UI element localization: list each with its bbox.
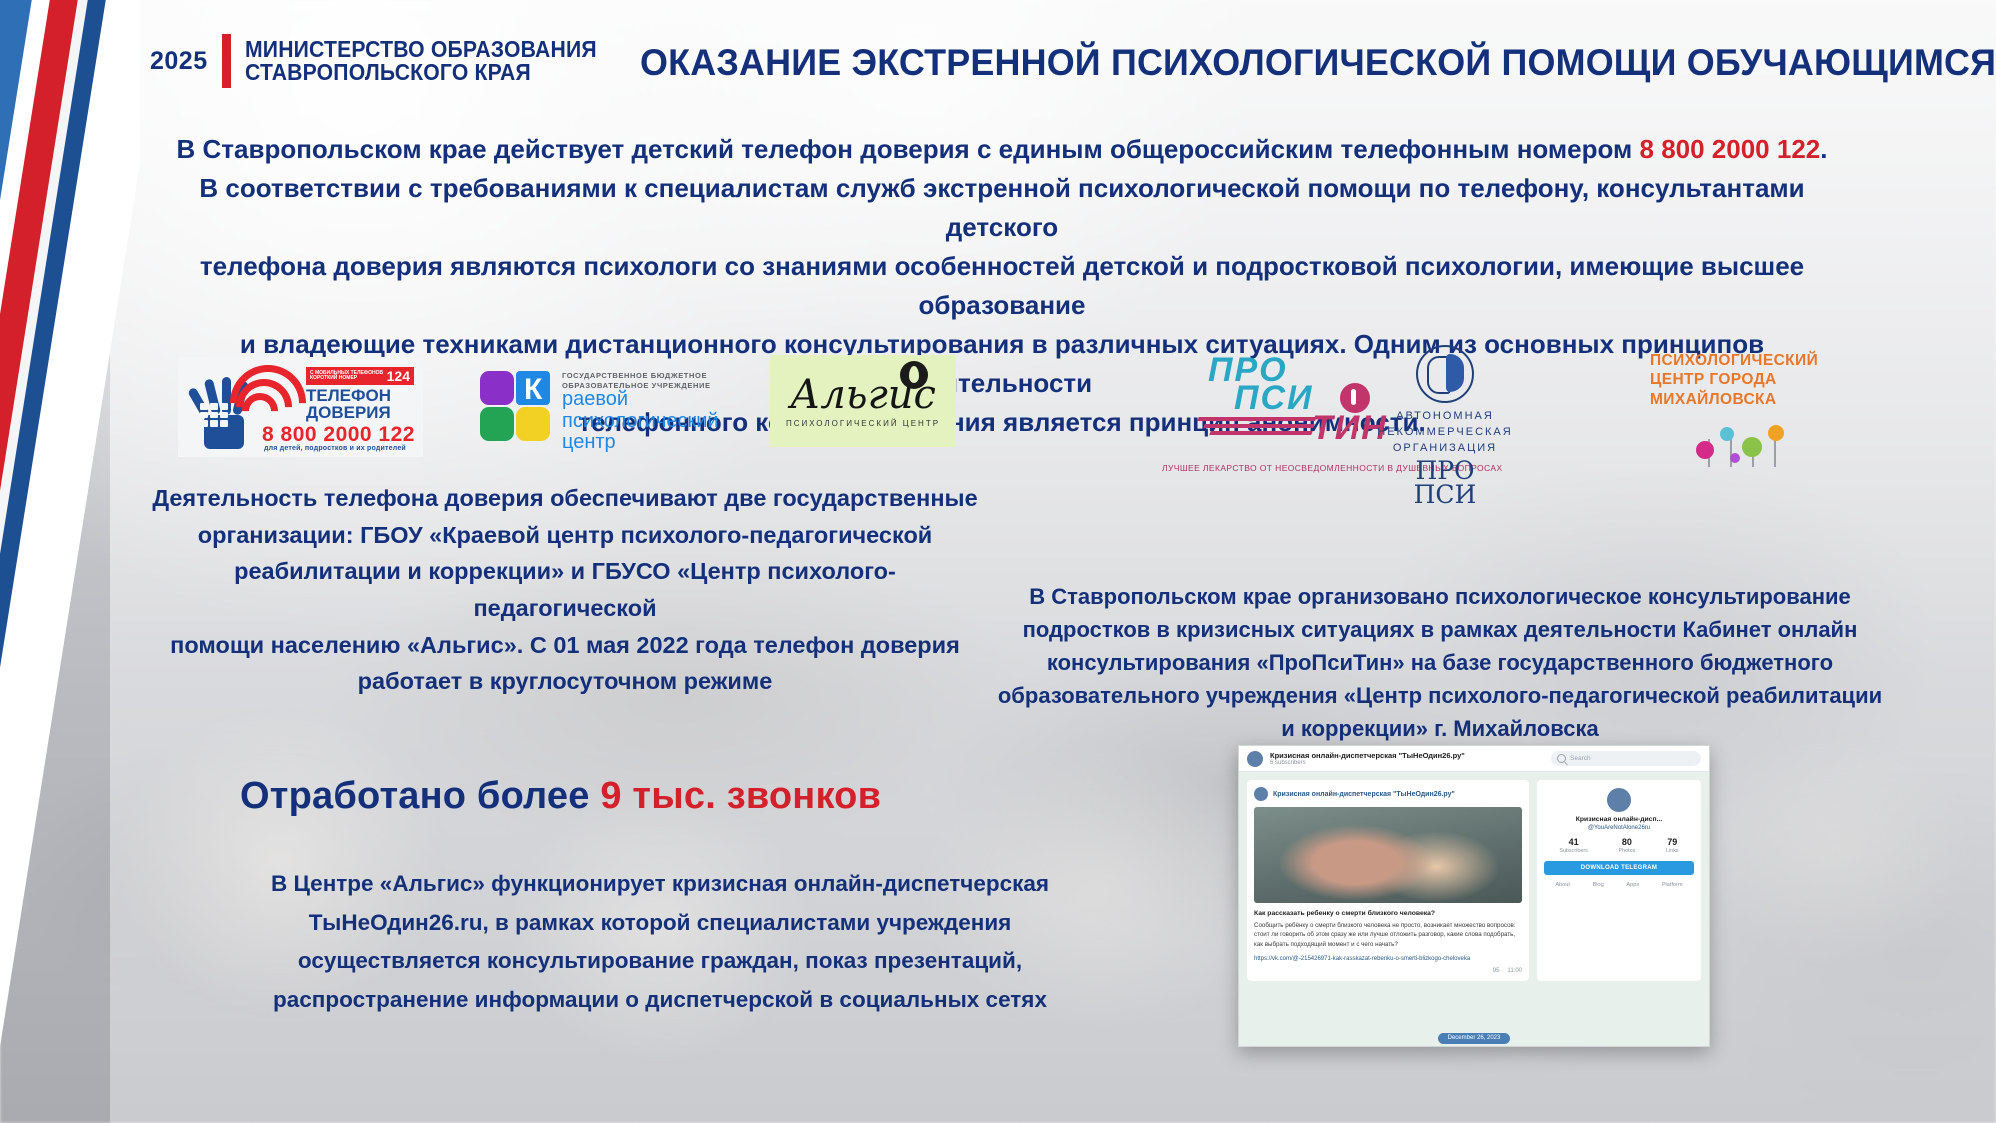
ano-brand-2: ПСИ xyxy=(1330,483,1560,507)
post-avatar xyxy=(1254,787,1268,801)
bottom-line-2: ТыНеОдин26.ru, в рамках которой специали… xyxy=(210,904,1110,943)
right-line-3: консультирования «ПроПсиТин» на базе гос… xyxy=(990,646,1890,679)
bottom-text-block: В Центре «Альгис» функционирует кризисна… xyxy=(210,865,1110,1020)
right-line-4: образовательного учреждения «Центр психо… xyxy=(990,679,1890,712)
post-image xyxy=(1254,807,1522,903)
stat-prefix: Отработано более xyxy=(240,775,600,817)
group-title-block: Кризисная онлайн-диспетчерская "ТыНеОдин… xyxy=(1270,751,1465,766)
logo-algis: Альгис ПСИХОЛОГИЧЕСКИЙ ЦЕНТР xyxy=(770,355,956,447)
page-title: ОКАЗАНИЕ ЭКСТРЕННОЙ ПСИХОЛОГИЧЕСКОЙ ПОМО… xyxy=(640,42,1932,84)
left-line-1: Деятельность телефона доверия обеспечива… xyxy=(150,480,980,517)
phone-keypad-icon xyxy=(200,403,228,427)
left-line-3: реабилитации и коррекции» и ГБУСО «Центр… xyxy=(150,553,980,626)
calls-handled-stat: Отработано более 9 тыс. звонков xyxy=(240,775,881,818)
algis-subtitle: ПСИХОЛОГИЧЕСКИЙ ЦЕНТР xyxy=(786,419,940,428)
kpc-letter-k: К xyxy=(524,375,542,405)
vk-body: Кризисная онлайн-диспетчерская "ТыНеОдин… xyxy=(1239,772,1709,989)
intro-line-1-a: В Ставропольском крае действует детский … xyxy=(177,134,1640,164)
left-text-block: Деятельность телефона доверия обеспечива… xyxy=(150,480,980,700)
group-title: Кризисная онлайн-диспетчерская "ТыНеОдин… xyxy=(1270,751,1465,760)
header-ministry-block: 2025 МИНИСТЕРСТВО ОБРАЗОВАНИЯ СТАВРОПОЛЬ… xyxy=(150,34,627,88)
intro-line-1-b: . xyxy=(1820,134,1827,164)
bottom-line-1: В Центре «Альгис» функционирует кризисна… xyxy=(210,865,1110,904)
sidebar-title: Кризисная онлайн-дисп... xyxy=(1544,816,1694,825)
stat-photos-value: 80 xyxy=(1619,837,1636,847)
sidebar-stats: 41 Subscribers 80 Photos 79 Links xyxy=(1544,837,1694,854)
trust-phone-audience: для детей, подростков и их родителей xyxy=(264,445,406,452)
group-subscribers: 6 subscribers xyxy=(1270,760,1465,766)
vk-post: Кризисная онлайн-диспетчерская "ТыНеОдин… xyxy=(1247,780,1529,981)
sidebar-avatar xyxy=(1607,788,1631,812)
post-views: 95 xyxy=(1493,968,1500,974)
nav-link-apps[interactable]: Apps xyxy=(1626,882,1639,888)
kpc-square-green xyxy=(480,407,514,441)
group-avatar xyxy=(1247,751,1263,767)
slide-root: 2025 МИНИСТЕРСТВО ОБРАЗОВАНИЯ СТАВРОПОЛЬ… xyxy=(0,0,1996,1123)
left-line-2: организации: ГБОУ «Краевой центр психоло… xyxy=(150,517,980,554)
sidebar-nav-links: About Blog Apps Platform xyxy=(1544,882,1694,888)
intro-line-3: телефона доверия являются психологи со з… xyxy=(152,247,1852,325)
post-question: Как рассказать ребенку о смерти близкого… xyxy=(1254,910,1522,917)
vk-screenshot-card: Кризисная онлайн-диспетчерская "ТыНеОдин… xyxy=(1238,745,1710,1047)
stat-links-label: Links xyxy=(1666,848,1679,854)
trust-phone-name-2: ДОВЕРИЯ xyxy=(306,404,391,421)
logo-kray-psychological-center: К ГОСУДАРСТВЕННОЕ БЮДЖЕТНОЕ ОБРАЗОВАТЕЛЬ… xyxy=(480,363,750,455)
kpc-square-purple xyxy=(480,371,514,405)
post-time: 11:00 xyxy=(1507,968,1522,974)
header-red-bar xyxy=(222,34,231,88)
short-number-badge: С МОБИЛЬНЫХ ТЕЛЕФОНОВКОРОТКИЙ НОМЕР 124 xyxy=(306,367,414,385)
stat-links-value: 79 xyxy=(1666,837,1679,847)
stat-subscribers: 41 Subscribers xyxy=(1559,837,1587,854)
post-text: Сообщить ребёнку о смерти близкого челов… xyxy=(1254,921,1522,949)
ano-line-1: АВТОНОМНАЯ xyxy=(1330,409,1560,425)
post-meta: 95 11:00 xyxy=(1254,968,1522,974)
post-header: Кризисная онлайн-диспетчерская "ТыНеОдин… xyxy=(1254,787,1522,801)
vk-footer: December 26, 2023 xyxy=(1239,1030,1709,1046)
left-line-5: работает в круглосуточном режиме xyxy=(150,663,980,700)
ano-brand-1: ПРО xyxy=(1330,459,1560,483)
intro-line-2: В соответствии с требованиями к специали… xyxy=(152,169,1852,247)
mikhailovsk-text: ПСИХОЛОГИЧЕСКИЙ ЦЕНТР ГОРОДА МИХАЙЛОВСКА xyxy=(1650,351,1870,409)
stat-subscribers-value: 41 xyxy=(1559,837,1587,847)
right-line-1: В Ставропольском крае организовано психо… xyxy=(990,580,1890,613)
header-ministry-name: МИНИСТЕРСТВО ОБРАЗОВАНИЯ СТАВРОПОЛЬСКОГО… xyxy=(245,38,627,85)
post-link[interactable]: https://vk.com/@-215426971-kak-rasskazat… xyxy=(1254,955,1522,963)
mikhailovsk-line-1: ПСИХОЛОГИЧЕСКИЙ xyxy=(1650,351,1870,370)
header-year: 2025 xyxy=(150,47,208,76)
logo-mikhailovsk-center: ПСИХОЛОГИЧЕСКИЙ ЦЕНТР ГОРОДА МИХАЙЛОВСКА xyxy=(1650,351,1870,471)
ano-brand: ПРО ПСИ xyxy=(1330,459,1560,507)
badge-number: 124 xyxy=(387,368,410,384)
kpc-big-text: раевой психологический центр xyxy=(562,389,719,454)
right-line-5: и коррекции» г. Михайловска xyxy=(990,712,1890,745)
bottom-line-3: осуществляется консультирование граждан,… xyxy=(210,942,1110,981)
right-text-block: В Ставропольском крае организовано психо… xyxy=(990,580,1890,745)
propsitin-line-2: ПСИ xyxy=(1234,379,1313,418)
stat-links: 79 Links xyxy=(1666,837,1679,854)
stat-subscribers-label: Subscribers xyxy=(1559,848,1587,854)
tricolor-ribbon xyxy=(0,0,140,1123)
kpc-small-1: ГОСУДАРСТВЕННОЕ БЮДЖЕТНОЕ xyxy=(562,371,711,381)
trust-phone-logo-number: 8 800 2000 122 xyxy=(262,423,415,447)
nav-link-about[interactable]: About xyxy=(1555,882,1570,888)
nav-link-platform[interactable]: Platform xyxy=(1662,882,1683,888)
trust-phone-name: ТЕЛЕФОН ДОВЕРИЯ xyxy=(306,387,391,421)
magnifier-icon xyxy=(1557,754,1566,763)
search-placeholder: Search xyxy=(1570,755,1591,762)
trust-phone-name-1: ТЕЛЕФОН xyxy=(306,387,391,404)
badge-small-2: КОРОТКИЙ НОМЕР xyxy=(310,375,357,381)
stat-photos: 80 Photos xyxy=(1619,837,1636,854)
colored-balloons-icon xyxy=(1696,423,1816,469)
kpc-square-yellow xyxy=(516,407,550,441)
right-line-2: подростков в кризисных ситуациях в рамка… xyxy=(990,613,1890,646)
ministry-line-2: СТАВРОПОЛЬСКОГО КРАЯ xyxy=(245,61,597,84)
ano-line-3: ОРГАНИЗАЦИЯ xyxy=(1330,441,1560,457)
stat-photos-label: Photos xyxy=(1619,848,1636,854)
trust-phone-number: 8 800 2000 122 xyxy=(1640,134,1821,164)
partner-logos-strip: С МОБИЛЬНЫХ ТЕЛЕФОНОВКОРОТКИЙ НОМЕР 124 … xyxy=(150,345,1880,475)
ano-line-2: НЕКОММЕРЧЕСКАЯ xyxy=(1330,425,1560,441)
propsitin-stripes-icon xyxy=(1198,417,1318,443)
bottom-line-4: распространение информации о диспетчерск… xyxy=(210,981,1110,1020)
ministry-line-1: МИНИСТЕРСТВО ОБРАЗОВАНИЯ xyxy=(245,38,597,61)
mikhailovsk-line-2: ЦЕНТР ГОРОДА xyxy=(1650,370,1870,389)
logo-ano-propsi: АВТОНОМНАЯ НЕКОММЕРЧЕСКАЯ ОРГАНИЗАЦИЯ ПР… xyxy=(1330,345,1560,471)
kpc-big-1: раевой xyxy=(562,389,719,411)
logo-trust-phone: С МОБИЛЬНЫХ ТЕЛЕФОНОВКОРОТКИЙ НОМЕР 124 … xyxy=(178,357,423,457)
post-author: Кризисная онлайн-диспетчерская "ТыНеОдин… xyxy=(1273,791,1455,798)
vk-top-bar: Кризисная онлайн-диспетчерская "ТыНеОдин… xyxy=(1239,746,1709,772)
sidebar-handle[interactable]: @YouAreNotAlone26ru xyxy=(1544,825,1694,831)
nav-link-blog[interactable]: Blog xyxy=(1593,882,1604,888)
leaf-icon xyxy=(900,361,928,389)
mikhailovsk-line-3: МИХАЙЛОВСКА xyxy=(1650,390,1870,409)
vk-sidebar: Кризисная онлайн-дисп... @YouAreNotAlone… xyxy=(1537,780,1701,981)
download-telegram-button[interactable]: DOWNLOAD TELEGRAM xyxy=(1544,861,1694,875)
intro-line-1: В Ставропольском крае действует детский … xyxy=(152,130,1852,169)
search-input[interactable]: Search xyxy=(1551,751,1701,766)
stat-highlight: 9 тыс. звонков xyxy=(600,775,881,817)
ano-text: АВТОНОМНАЯ НЕКОММЕРЧЕСКАЯ ОРГАНИЗАЦИЯ xyxy=(1330,409,1560,457)
kpc-big-2: психологический xyxy=(562,411,719,433)
head-profile-icon xyxy=(1416,345,1474,403)
date-pill: December 26, 2023 xyxy=(1438,1033,1511,1044)
left-line-4: помощи населению «Альгис». С 01 мая 2022… xyxy=(150,627,980,664)
kpc-big-3: центр xyxy=(562,432,719,454)
